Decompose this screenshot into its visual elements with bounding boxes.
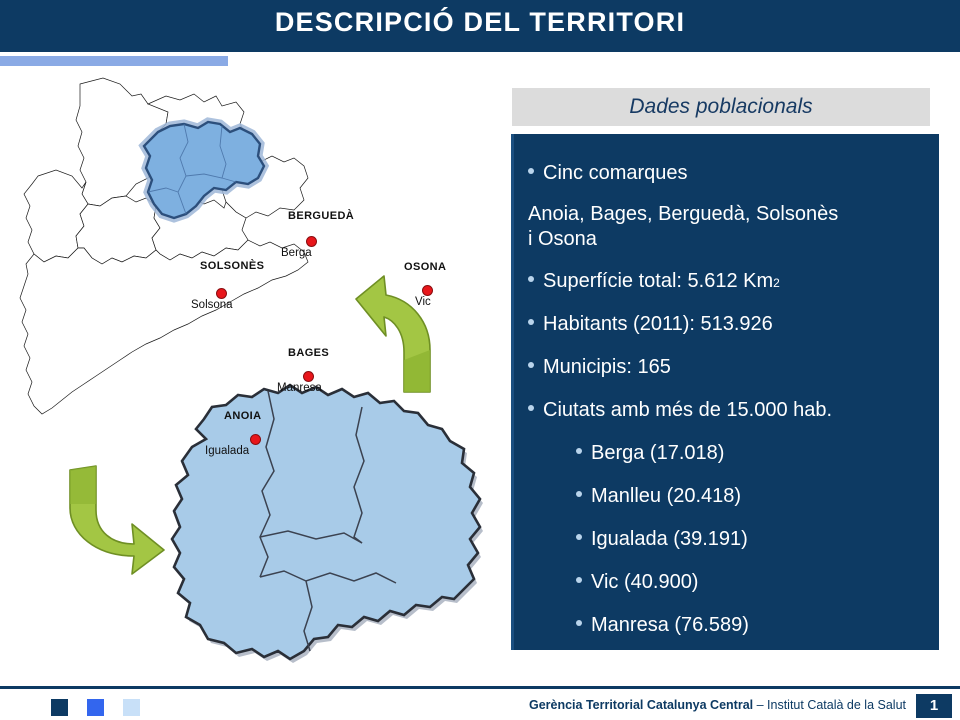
- map-label-anoia: ANOIA: [224, 410, 261, 422]
- list-item: Berga (17.018): [576, 442, 724, 465]
- map-label-solsona: Solsona: [191, 299, 233, 311]
- map-label-igualada: Igualada: [205, 445, 249, 457]
- map-label-bages: BAGES: [288, 347, 329, 359]
- superscript-two: 2: [773, 276, 780, 290]
- list-item: Vic (40.900): [576, 571, 698, 594]
- page-number-box: 1: [916, 694, 952, 718]
- list-item-label: Vic (40.900): [591, 571, 698, 594]
- map-label-manresa: Manresa: [277, 382, 322, 394]
- list-item-label-cont: i Osona: [528, 228, 597, 250]
- page-number: 1: [916, 697, 952, 714]
- footer-square-blue: [87, 699, 104, 716]
- list-item: Habitants (2011): 513.926: [528, 313, 773, 336]
- footer-rule: [0, 686, 960, 689]
- list-item-label: Manlleu (20.418): [591, 485, 741, 508]
- list-item: Cinc comarques: [528, 162, 688, 185]
- page-title: DESCRIPCIÓ DEL TERRITORI: [0, 7, 960, 38]
- bullet-dot-icon: [528, 362, 534, 368]
- list-item-label: Cinc comarques: [543, 162, 688, 185]
- list-item: Municipis: 165: [528, 356, 671, 379]
- list-item-label: Municipis: 165: [543, 356, 671, 379]
- footer-organisation: Gerència Territorial Catalunya Central –…: [529, 698, 906, 712]
- map-dot-solsona: [216, 288, 227, 299]
- footer-square-navy: [51, 699, 68, 716]
- list-item-label: Manresa (76.589): [591, 614, 749, 637]
- list-item-label: Habitants (2011): 513.926: [543, 313, 773, 336]
- list-item-label: Superfície total: 5.612 Km: [543, 270, 773, 293]
- map-area: BERGUEDÀ Berga SOLSONÈS Solsona OSONA Vi…: [0, 66, 500, 666]
- list-item-label: Anoia, Bages, Berguedà, Solsonès: [528, 203, 838, 225]
- bullet-dot-icon: [528, 405, 534, 411]
- arrow-down-right-icon: [52, 452, 177, 582]
- bullet-dot-icon: [528, 168, 534, 174]
- list-item-label: Ciutats amb més de 15.000 hab.: [543, 399, 832, 422]
- bullet-dot-icon: [576, 491, 582, 497]
- bullet-dot-icon: [576, 534, 582, 540]
- list-item: Igualada (39.191): [576, 528, 748, 551]
- map-dot-igualada: [250, 434, 261, 445]
- map-label-berga: Berga: [281, 247, 312, 259]
- map-dot-berga: [306, 236, 317, 247]
- footer-square-lightblue: [123, 699, 140, 716]
- population-data-panel: Cinc comarques Anoia, Bages, Berguedà, S…: [511, 134, 939, 650]
- list-item-label: Igualada (39.191): [591, 528, 748, 551]
- list-item: Anoia, Bages, Berguedà, Solsonès i Osona: [528, 202, 838, 252]
- arrow-up-left-icon: [334, 264, 452, 409]
- map-label-solsones: SOLSONÈS: [200, 260, 264, 272]
- panel-header-band: Dades poblacionals: [512, 88, 930, 126]
- bullet-dot-icon: [576, 620, 582, 626]
- footer-org-rest: – Institut Català de la Salut: [753, 698, 906, 712]
- list-item: Manresa (76.589): [576, 614, 749, 637]
- list-item-label: Berga (17.018): [591, 442, 724, 465]
- title-accent-bar: [0, 56, 228, 66]
- map-dot-manresa: [303, 371, 314, 382]
- bullet-dot-icon: [528, 276, 534, 282]
- map-label-bergueda: BERGUEDÀ: [288, 210, 354, 222]
- list-item: Ciutats amb més de 15.000 hab.: [528, 399, 832, 422]
- panel-header-title: Dades poblacionals: [512, 95, 930, 119]
- slide-title-bar: DESCRIPCIÓ DEL TERRITORI: [0, 0, 960, 52]
- bullet-dot-icon: [576, 448, 582, 454]
- list-item: Superfície total: 5.612 Km2: [528, 270, 780, 293]
- bullet-dot-icon: [576, 577, 582, 583]
- footer-org-bold: Gerència Territorial Catalunya Central: [529, 698, 753, 712]
- list-item: Manlleu (20.418): [576, 485, 741, 508]
- bullet-dot-icon: [528, 319, 534, 325]
